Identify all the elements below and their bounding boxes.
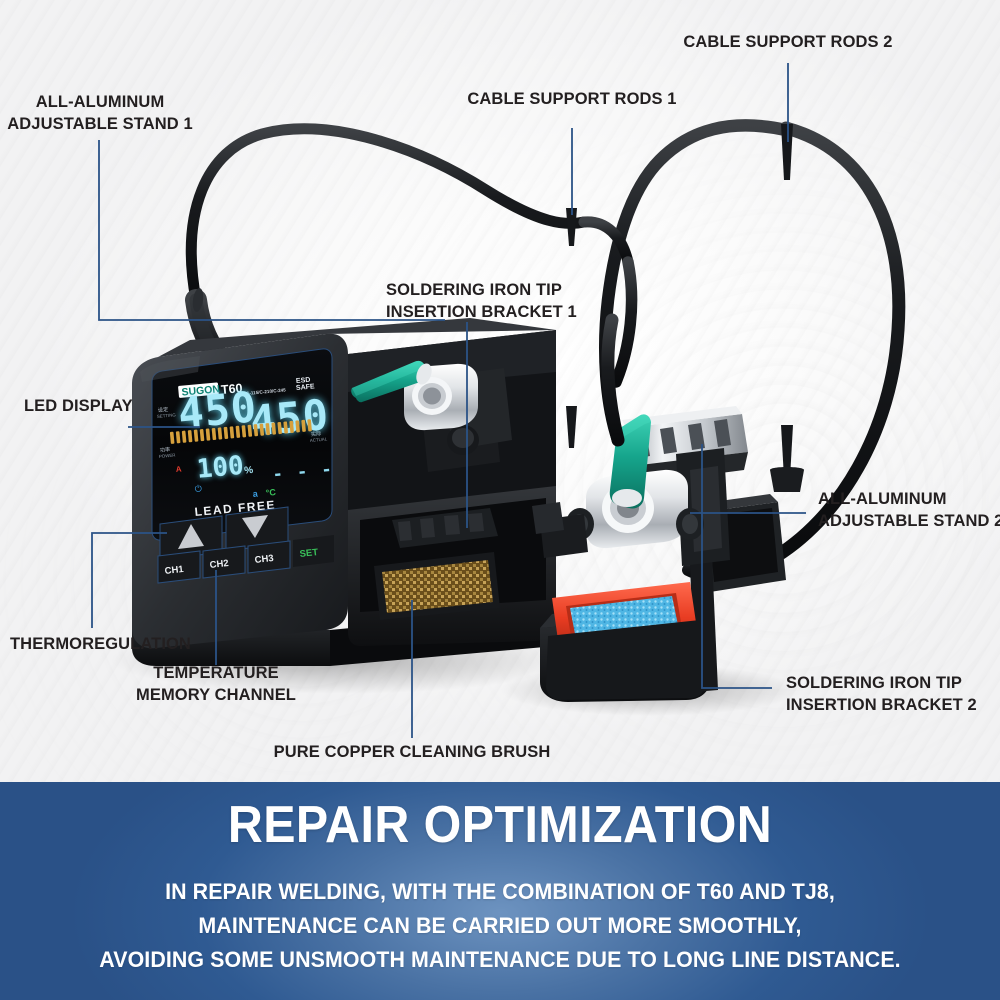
- callout-line: INSERTION BRACKET 2: [786, 695, 977, 717]
- banner-title: REPAIR OPTIMIZATION: [35, 795, 965, 855]
- infographic-canvas: SUGON T60 C-115/C-210/C-245 ESD SAFE 设定 …: [0, 0, 1000, 1000]
- callout-line: CABLE SUPPORT RODS 1: [432, 89, 712, 111]
- callout-line: MEMORY CHANNEL: [116, 685, 316, 707]
- banner-subtitle: IN REPAIR WELDING, WITH THE COMBINATION …: [25, 875, 975, 978]
- leader-thermoregulation: [92, 533, 167, 628]
- callout-line: CABLE SUPPORT RODS 2: [648, 32, 928, 54]
- product-photo-area: SUGON T60 C-115/C-210/C-245 ESD SAFE 设定 …: [0, 0, 1000, 782]
- callout-pure-copper-cleaning-brush: PURE COPPER CLEANING BRUSH: [272, 742, 552, 764]
- callout-line: INSERTION BRACKET 1: [386, 302, 577, 324]
- callout-line: ADJUSTABLE STAND 2: [818, 511, 1000, 533]
- leader-bracket-2: [702, 444, 772, 688]
- callout-all-aluminum-adjustable-stand-2: ALL-ALUMINUM ADJUSTABLE STAND 2: [818, 489, 1000, 533]
- callout-line: LED DISPLAY: [24, 396, 133, 418]
- banner-subtitle-line-2: MAINTENANCE CAN BE CARRIED OUT MORE SMOO…: [25, 909, 975, 943]
- callout-line: SOLDERING IRON TIP: [786, 673, 977, 695]
- callout-thermoregulation: THERMOREGULATION: [10, 634, 191, 656]
- callout-line: SOLDERING IRON TIP: [386, 280, 577, 302]
- callout-line: ADJUSTABLE STAND 1: [0, 114, 200, 136]
- callout-line: THERMOREGULATION: [10, 634, 191, 656]
- callout-cable-support-rods-1: CABLE SUPPORT RODS 1: [432, 89, 712, 111]
- callout-all-aluminum-adjustable-stand-1: ALL-ALUMINUM ADJUSTABLE STAND 1: [0, 92, 200, 136]
- callout-temperature-memory-channel: TEMPERATURE MEMORY CHANNEL: [116, 663, 316, 707]
- callout-led-display: LED DISPLAY: [24, 396, 133, 418]
- bottom-banner: REPAIR OPTIMIZATION IN REPAIR WELDING, W…: [0, 782, 1000, 1000]
- callout-line: ALL-ALUMINUM: [818, 489, 1000, 511]
- callout-soldering-iron-tip-insertion-bracket-1: SOLDERING IRON TIP INSERTION BRACKET 1: [386, 280, 577, 324]
- callout-line: TEMPERATURE: [116, 663, 316, 685]
- banner-subtitle-line-1: IN REPAIR WELDING, WITH THE COMBINATION …: [25, 875, 975, 909]
- callout-soldering-iron-tip-insertion-bracket-2: SOLDERING IRON TIP INSERTION BRACKET 2: [786, 673, 977, 717]
- callout-cable-support-rods-2: CABLE SUPPORT RODS 2: [648, 32, 928, 54]
- callout-line: PURE COPPER CLEANING BRUSH: [272, 742, 552, 764]
- banner-subtitle-line-3: AVOIDING SOME UNSMOOTH MAINTENANCE DUE T…: [25, 943, 975, 977]
- callout-line: ALL-ALUMINUM: [0, 92, 200, 114]
